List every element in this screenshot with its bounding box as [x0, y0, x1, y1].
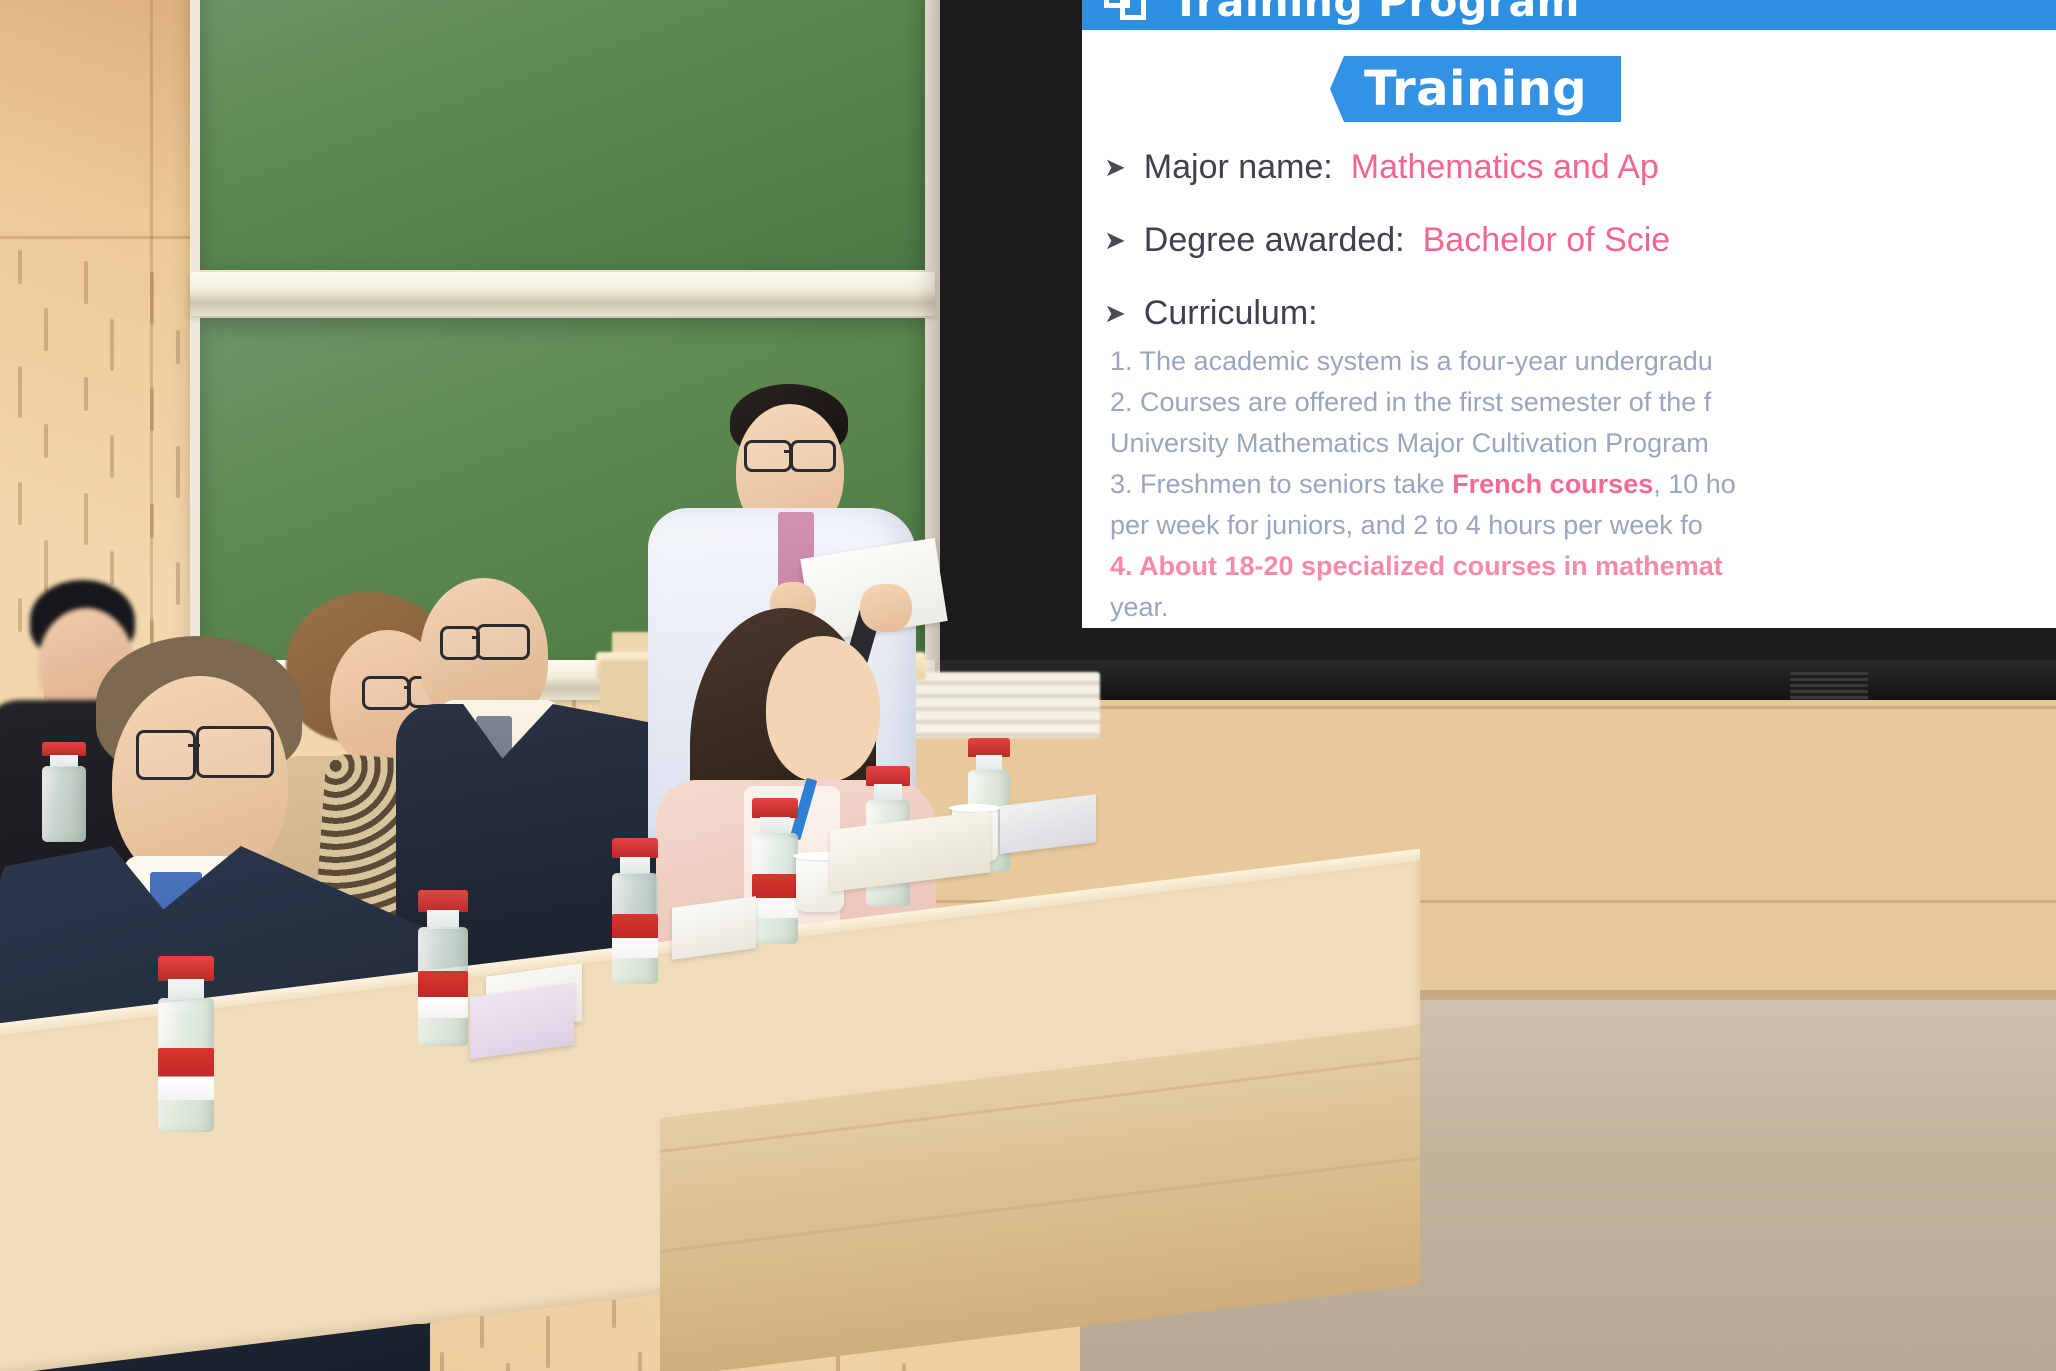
cup-rim [949, 804, 1001, 812]
bullet-label: Curriculum: [1144, 294, 1318, 333]
acoustic-slot [18, 250, 22, 284]
eyeglasses-bridge [784, 450, 792, 453]
bullet-accent-value: Bachelor of Scie [1423, 221, 1671, 260]
acoustic-slot [902, 1363, 906, 1371]
bullet-label: Major name: [1144, 148, 1333, 187]
bottle-cap [612, 838, 658, 858]
chalkboard-upper-panel [200, 0, 925, 270]
curriculum-line: University Mathematics Major Cultivation… [1110, 423, 2056, 464]
bottle-label [418, 971, 468, 1018]
slide-ribbon-text: Training [1364, 61, 1587, 117]
acoustic-slot [18, 482, 22, 525]
hand [860, 584, 912, 632]
acoustic-slot [176, 330, 180, 364]
slide-bullet-list: ➤ Major name: Mathematics and Ap ➤ Degre… [1104, 148, 2056, 628]
acoustic-slot [84, 493, 88, 545]
bottle-neck [168, 979, 204, 1000]
eyeglasses-bridge [188, 744, 200, 747]
acoustic-slot [150, 388, 154, 431]
curriculum-text-pre: 3. Freshmen to seniors take [1110, 469, 1452, 499]
curriculum-text-highlight: French courses [1452, 469, 1653, 499]
acoustic-slot [18, 598, 22, 632]
slide-header-bar: Training Program [1082, 0, 2056, 30]
water-bottle [42, 742, 86, 842]
bullet-accent-value: Mathematics and Ap [1351, 148, 1659, 187]
bottle-label [612, 914, 658, 958]
bullet-arrow-icon: ➤ [1104, 301, 1126, 327]
bottle-cap [968, 738, 1010, 757]
acoustic-slot [44, 540, 48, 592]
bottle-cap [752, 798, 798, 818]
water-bottle [158, 956, 214, 1132]
acoustic-slot [110, 551, 114, 585]
head [766, 636, 880, 782]
eyeglasses-bridge [472, 636, 480, 639]
bottle-cap [158, 956, 214, 981]
curriculum-line-highlight: 4. About 18-20 specialized courses in ma… [1110, 546, 2056, 587]
acoustic-slot [110, 319, 114, 371]
water-bottle [418, 890, 468, 1046]
bottle-neck [976, 755, 1003, 771]
acoustic-slot [176, 562, 180, 605]
bottle-cap [866, 766, 910, 786]
curriculum-line: per week for juniors, and 2 to 4 hours p… [1110, 505, 2056, 546]
curriculum-line: year. [1110, 587, 2056, 628]
bottle-neck [620, 857, 649, 875]
eyeglasses-icon [744, 440, 792, 472]
eyeglasses-icon [440, 626, 480, 660]
acoustic-slot [546, 1316, 550, 1368]
bottle-neck [760, 817, 789, 835]
bottle-label [158, 1048, 214, 1101]
curriculum-line: 1. The academic system is a four-year un… [1110, 341, 2056, 382]
curriculum-detail-lines: 1. The academic system is a four-year un… [1104, 341, 2056, 628]
acoustic-slot [176, 446, 180, 498]
bullet-label: Degree awarded: [1144, 221, 1405, 260]
water-bottle [612, 838, 658, 984]
eyeglasses-bridge [404, 686, 410, 689]
slide-bullet-major: ➤ Major name: Mathematics and Ap [1104, 148, 2056, 187]
acoustic-slot [150, 272, 154, 324]
bottle-neck [427, 910, 459, 929]
acoustic-slot [440, 1352, 444, 1371]
acoustic-slot [84, 261, 88, 304]
water-bottle [752, 798, 798, 944]
acoustic-slot [84, 377, 88, 411]
overlapping-squares-icon [1104, 0, 1150, 22]
slide-ribbon-banner: Training [1330, 56, 1621, 122]
acoustic-slot [110, 435, 114, 478]
eyeglasses-icon [196, 726, 274, 778]
eyeglasses-icon [362, 676, 410, 710]
presentation-slide: Training Program Training ➤ Major name: … [1082, 0, 2056, 628]
bottle-neck [874, 784, 902, 801]
chalkboard-middle-rail [190, 272, 935, 316]
acoustic-slot [18, 366, 22, 418]
bottle-cap [418, 890, 468, 912]
slide-bullet-curriculum: ➤ Curriculum: [1104, 294, 2056, 333]
curriculum-text-post: , 10 ho [1653, 469, 1736, 499]
slide-bullet-degree: ➤ Degree awarded: Bachelor of Scie [1104, 221, 2056, 260]
bottle-label [752, 874, 798, 918]
acoustic-slot [150, 504, 154, 538]
eyeglasses-icon [136, 730, 196, 780]
acoustic-slot [44, 308, 48, 351]
bullet-arrow-icon: ➤ [1104, 228, 1126, 254]
slide-header-title: Training Program [1172, 0, 1580, 26]
curriculum-line-french: 3. Freshmen to seniors take French cours… [1110, 464, 2056, 505]
eyeglasses-icon [476, 624, 530, 660]
conference-room-photo: Training Program Training ➤ Major name: … [0, 0, 2056, 1371]
curriculum-line: 2. Courses are offered in the first seme… [1110, 382, 2056, 423]
eyeglasses-icon [790, 440, 836, 472]
acoustic-slot [44, 424, 48, 458]
acoustic-slot [506, 1363, 510, 1371]
bottle-body [42, 766, 86, 842]
bullet-arrow-icon: ➤ [1104, 155, 1126, 181]
acoustic-slot [638, 1352, 642, 1371]
bottle-cap [42, 742, 86, 756]
projection-screen-base [940, 660, 2056, 700]
